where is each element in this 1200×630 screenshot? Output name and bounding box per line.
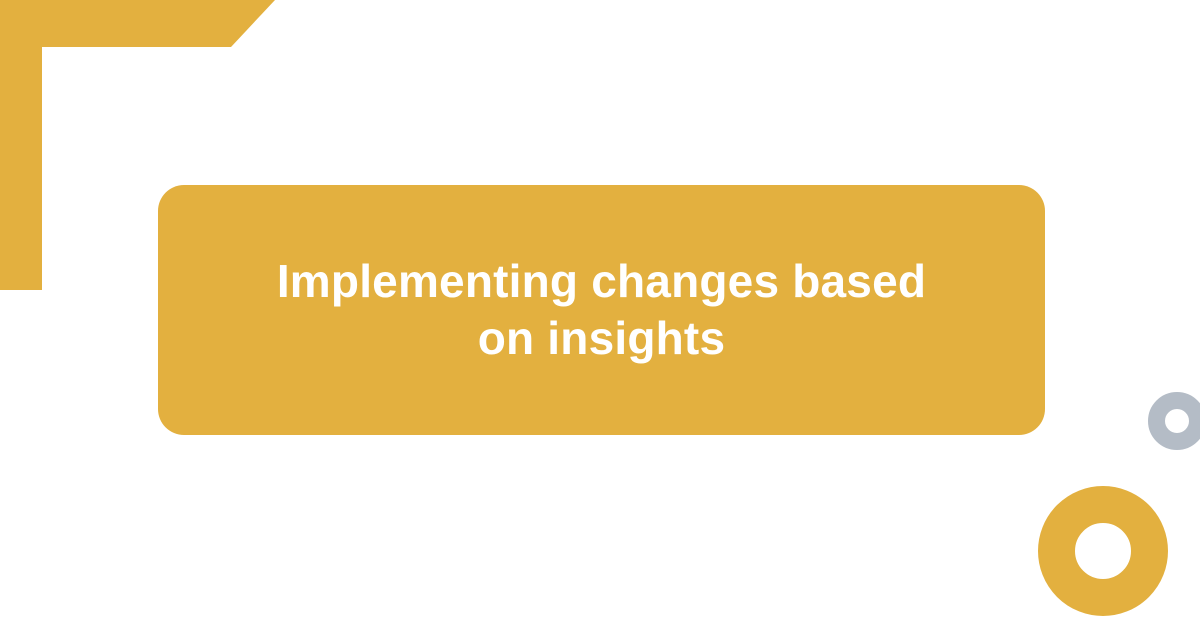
- bracket-triangle-notch: [231, 0, 275, 47]
- title-card: Implementing changes based on insights: [158, 185, 1045, 435]
- gold-ring-decoration: [1038, 486, 1168, 616]
- poster-canvas: Implementing changes based on insights: [0, 0, 1200, 630]
- gray-ring-decoration: [1148, 392, 1200, 450]
- page-title: Implementing changes based on insights: [277, 253, 926, 368]
- bracket-horizontal-bar: [0, 0, 231, 47]
